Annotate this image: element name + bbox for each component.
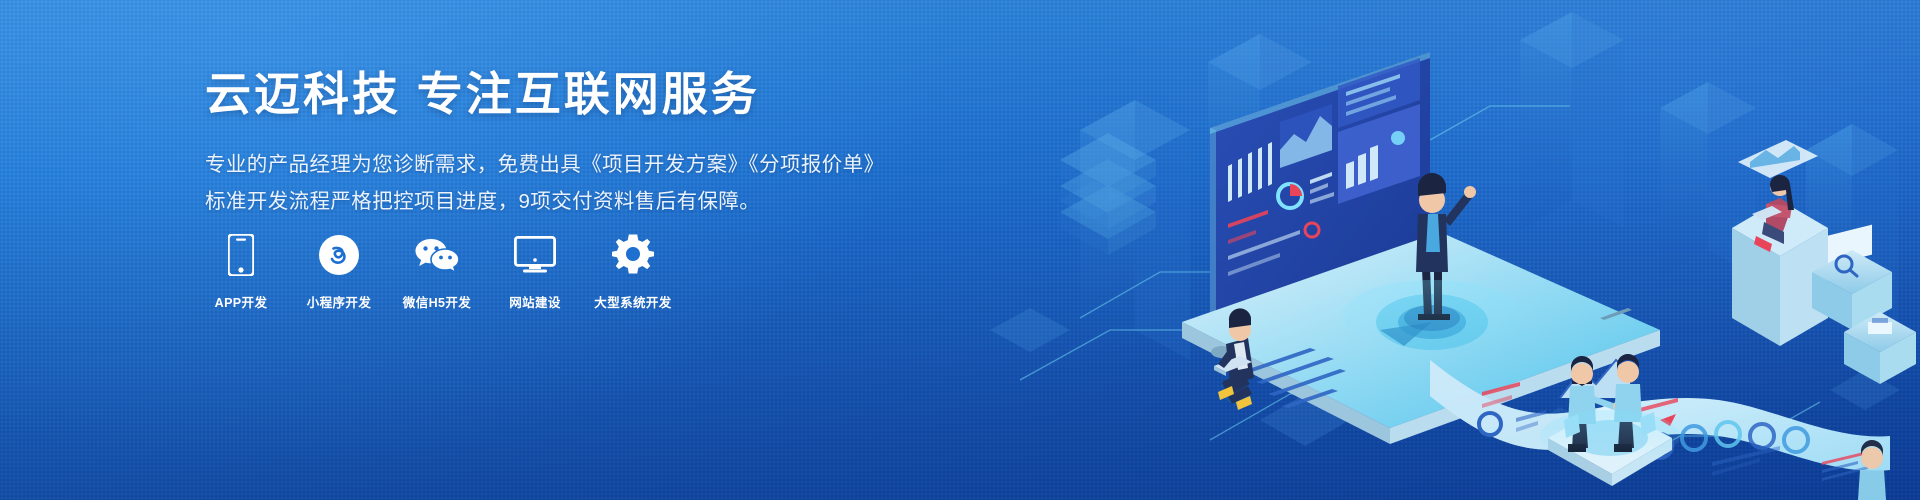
service-item-large-system[interactable]: 大型系统开发	[597, 232, 669, 311]
desktop-monitor-icon	[514, 232, 556, 278]
banner-copy: 云迈科技 专注互联网服务 专业的产品经理为您诊断需求，免费出具《项目开发方案》《…	[205, 66, 905, 221]
mini-program-icon	[319, 232, 359, 278]
promo-banner: 云迈科技 专注互联网服务 专业的产品经理为您诊断需求，免费出具《项目开发方案》《…	[0, 0, 1920, 500]
isometric-illustration	[960, 0, 1920, 500]
banner-subtitle: 专业的产品经理为您诊断需求，免费出具《项目开发方案》《分项报价单》 标准开发流程…	[205, 146, 905, 222]
service-item-website[interactable]: 网站建设	[499, 232, 571, 311]
service-label: 网站建设	[509, 292, 561, 311]
subtitle-line-1: 专业的产品经理为您诊断需求，免费出具《项目开发方案》《分项报价单》	[205, 146, 905, 184]
wechat-icon	[414, 232, 460, 278]
service-item-wechat-h5[interactable]: 微信H5开发	[401, 232, 473, 311]
page-title: 云迈科技 专注互联网服务	[205, 66, 905, 124]
service-label: 大型系统开发	[594, 292, 671, 311]
mobile-phone-icon	[228, 232, 254, 278]
service-label: 小程序开发	[307, 292, 372, 311]
service-list: APP开发 小程序开发 微信	[205, 232, 669, 311]
subtitle-line-2: 标准开发流程严格把控项目进度，9项交付资料售后有保障。	[205, 183, 905, 221]
gear-icon	[612, 232, 654, 278]
service-label: 微信H5开发	[403, 292, 471, 311]
service-label: APP开发	[215, 292, 268, 311]
service-item-app[interactable]: APP开发	[205, 232, 277, 311]
service-item-miniprogram[interactable]: 小程序开发	[303, 232, 375, 311]
